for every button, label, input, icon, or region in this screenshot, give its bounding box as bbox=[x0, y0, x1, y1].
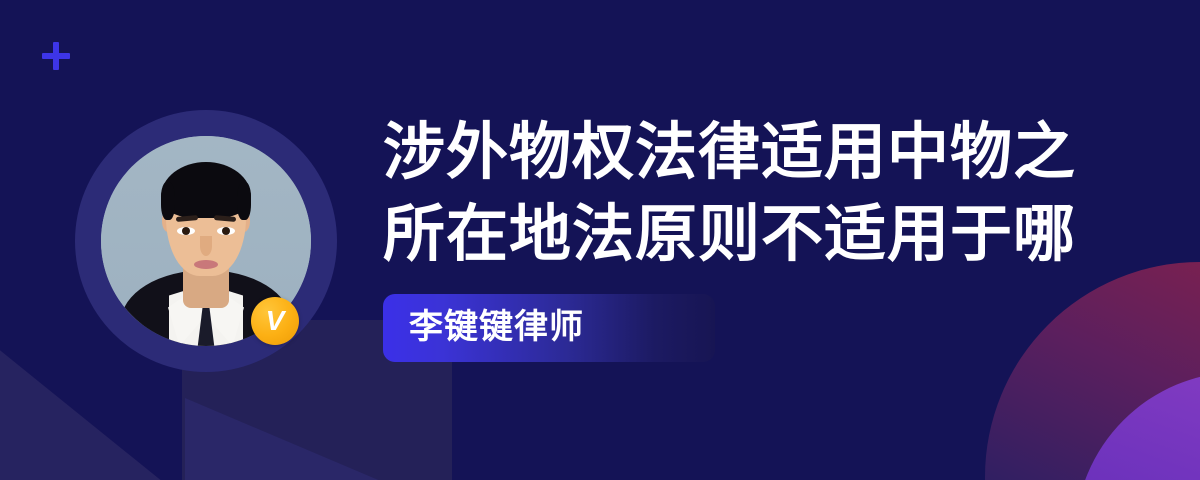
triangle-shape-lower bbox=[185, 398, 515, 480]
plus-icon bbox=[42, 42, 70, 70]
portrait-eye-right bbox=[217, 227, 235, 235]
avatar[interactable]: V bbox=[75, 110, 337, 372]
portrait-mouth bbox=[194, 260, 218, 269]
banner-content: 涉外物权法律适用中物之 所在地法原则不适用于哪 李键键律师 bbox=[383, 112, 1103, 362]
portrait-hair-side-right bbox=[237, 182, 251, 220]
lawyer-article-banner: V 涉外物权法律适用中物之 所在地法原则不适用于哪 李键键律师 bbox=[0, 0, 1200, 480]
plus-icon-bar-vertical bbox=[53, 42, 59, 70]
verified-badge-icon: V bbox=[251, 297, 299, 345]
portrait-eye-left bbox=[177, 227, 195, 235]
circle-shape-inner bbox=[1075, 372, 1200, 480]
portrait-hair-side-left bbox=[161, 182, 175, 220]
portrait-nose bbox=[200, 236, 212, 256]
page-title-line-2: 所在地法原则不适用于哪 bbox=[383, 194, 1103, 276]
author-name-badge[interactable]: 李键键律师 bbox=[383, 294, 715, 362]
page-title-line-1: 涉外物权法律适用中物之 bbox=[383, 112, 1103, 194]
